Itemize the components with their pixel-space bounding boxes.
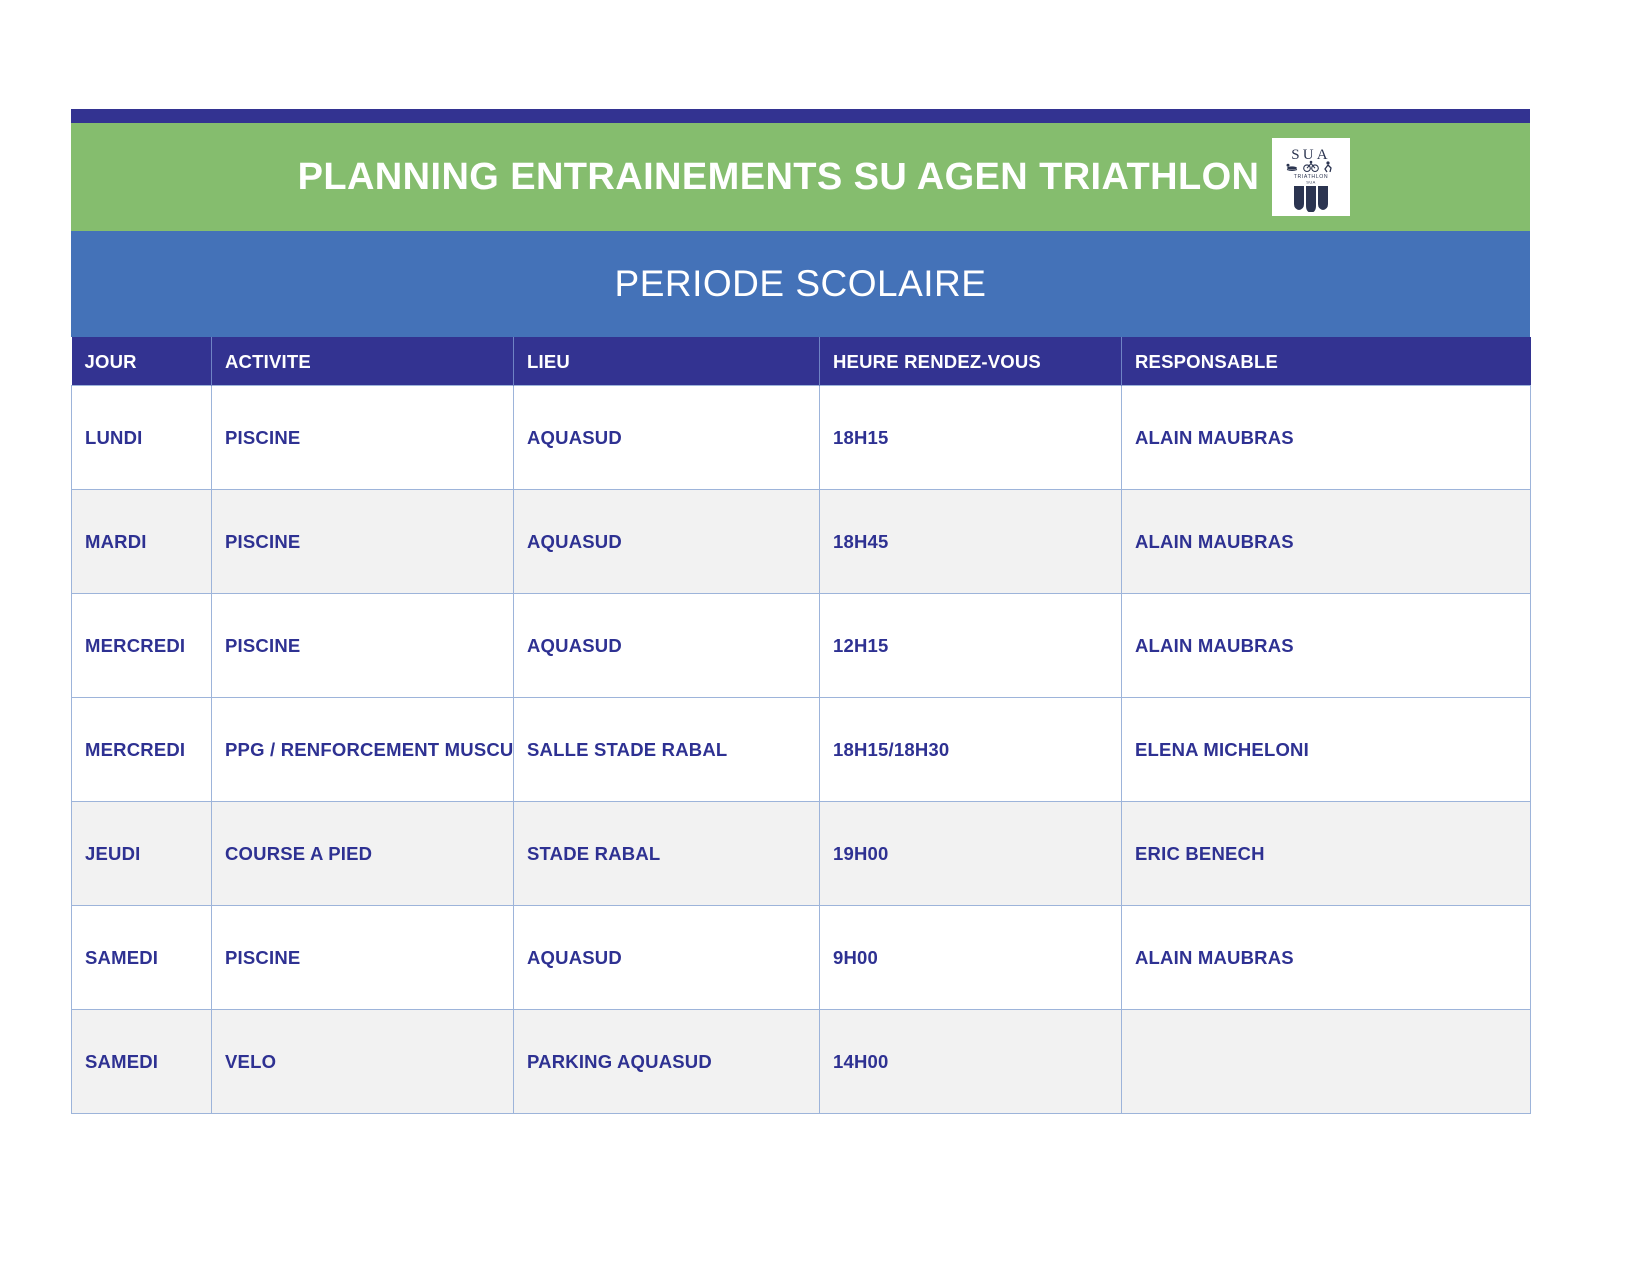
shield-icon: SUA TRIATHLON SUA [1279,142,1343,212]
cell-activite: PISCINE [212,594,514,698]
cell-jour: JEUDI [72,802,212,906]
cell-lieu: AQUASUD [514,490,820,594]
cell-responsable: ALAIN MAUBRAS [1122,906,1531,1010]
column-header-lieu: LIEU [514,337,820,386]
table-row: MERCREDI PPG / RENFORCEMENT MUSCU SALLE … [72,698,1531,802]
table-row: JEUDI COURSE A PIED STADE RABAL 19H00 ER… [72,802,1531,906]
cell-heure: 12H15 [820,594,1122,698]
table-row: LUNDI PISCINE AQUASUD 18H15 ALAIN MAUBRA… [72,386,1531,490]
cell-lieu: PARKING AQUASUD [514,1010,820,1114]
cell-activite: VELO [212,1010,514,1114]
cell-responsable: ALAIN MAUBRAS [1122,386,1531,490]
document-page: PLANNING ENTRAINEMENTS SU AGEN TRIATHLON… [0,0,1651,1276]
table-header-row: JOUR ACTIVITE LIEU HEURE RENDEZ-VOUS RES… [72,337,1531,386]
cell-activite: PPG / RENFORCEMENT MUSCU [212,698,514,802]
cell-jour: LUNDI [72,386,212,490]
table-row: MERCREDI PISCINE AQUASUD 12H15 ALAIN MAU… [72,594,1531,698]
svg-text:SUA: SUA [1306,180,1315,185]
top-accent-rule [71,109,1530,123]
cell-activite: COURSE A PIED [212,802,514,906]
table-row: SAMEDI VELO PARKING AQUASUD 14H00 [72,1010,1531,1114]
sua-triathlon-logo: SUA TRIATHLON SUA [1272,138,1350,216]
cell-lieu: SALLE STADE RABAL [514,698,820,802]
cell-lieu: AQUASUD [514,594,820,698]
cell-jour: MERCREDI [72,594,212,698]
cell-responsable [1122,1010,1531,1114]
title-band: PLANNING ENTRAINEMENTS SU AGEN TRIATHLON… [71,123,1530,231]
cell-jour: MARDI [72,490,212,594]
cell-lieu: AQUASUD [514,906,820,1010]
cell-responsable: ERIC BENECH [1122,802,1531,906]
column-header-jour: JOUR [72,337,212,386]
cell-jour: MERCREDI [72,698,212,802]
table-row: MARDI PISCINE AQUASUD 18H45 ALAIN MAUBRA… [72,490,1531,594]
cell-lieu: STADE RABAL [514,802,820,906]
cell-heure: 19H00 [820,802,1122,906]
cell-activite: PISCINE [212,906,514,1010]
cell-heure: 9H00 [820,906,1122,1010]
cell-activite: PISCINE [212,386,514,490]
cell-heure: 18H15 [820,386,1122,490]
column-header-responsable: RESPONSABLE [1122,337,1531,386]
cell-heure: 18H45 [820,490,1122,594]
cell-lieu: AQUASUD [514,386,820,490]
page-subtitle: PERIODE SCOLAIRE [615,263,987,305]
table-row: SAMEDI PISCINE AQUASUD 9H00 ALAIN MAUBRA… [72,906,1531,1010]
cell-heure: 14H00 [820,1010,1122,1114]
cell-jour: SAMEDI [72,1010,212,1114]
cell-heure: 18H15/18H30 [820,698,1122,802]
column-header-activite: ACTIVITE [212,337,514,386]
cell-responsable: ALAIN MAUBRAS [1122,594,1531,698]
training-schedule-table: JOUR ACTIVITE LIEU HEURE RENDEZ-VOUS RES… [71,337,1531,1114]
page-title: PLANNING ENTRAINEMENTS SU AGEN TRIATHLON [298,156,1260,199]
cell-activite: PISCINE [212,490,514,594]
cell-responsable: ELENA MICHELONI [1122,698,1531,802]
banner: PLANNING ENTRAINEMENTS SU AGEN TRIATHLON… [71,109,1530,1114]
cell-jour: SAMEDI [72,906,212,1010]
column-header-heure: HEURE RENDEZ-VOUS [820,337,1122,386]
subtitle-band: PERIODE SCOLAIRE [71,231,1530,337]
svg-text:SUA: SUA [1291,147,1331,163]
cell-responsable: ALAIN MAUBRAS [1122,490,1531,594]
